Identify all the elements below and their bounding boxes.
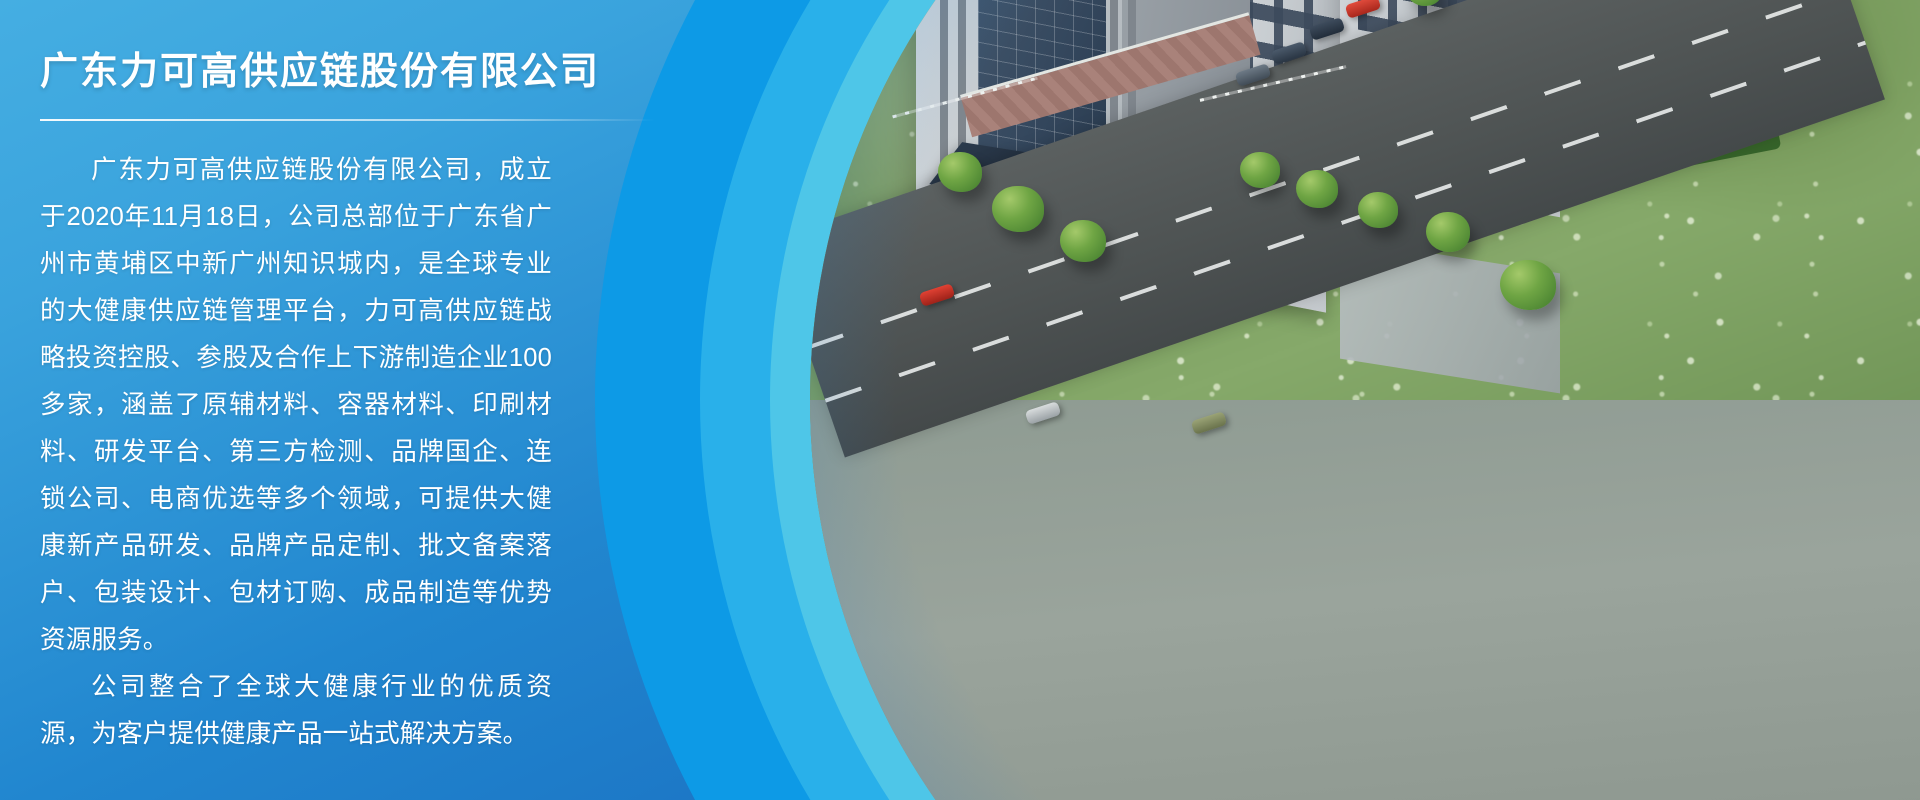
tree-6 bbox=[1358, 192, 1398, 228]
headquarters-photo bbox=[810, 0, 1920, 800]
profile-text-column: 广东力可高供应链股份有限公司 广东力可高供应链股份有限公司，成立于2020年11… bbox=[40, 48, 640, 758]
profile-paragraph-2: 公司整合了全球大健康行业的优质资源，为客户提供健康产品一站式解决方案。 bbox=[40, 664, 552, 758]
title-divider bbox=[40, 119, 655, 121]
profile-paragraph-1: 广东力可高供应链股份有限公司，成立于2020年11月18日，公司总部位于广东省广… bbox=[40, 147, 552, 664]
tree-1 bbox=[938, 152, 982, 192]
site-ground-plane bbox=[810, 400, 1920, 800]
tree-4 bbox=[1240, 152, 1280, 188]
tree-5 bbox=[1296, 170, 1338, 208]
page-title: 广东力可高供应链股份有限公司 bbox=[40, 48, 640, 97]
profile-body: 广东力可高供应链股份有限公司，成立于2020年11月18日，公司总部位于广东省广… bbox=[40, 147, 552, 758]
tree-7 bbox=[1426, 212, 1470, 252]
tree-8 bbox=[1500, 260, 1556, 310]
tree-2 bbox=[992, 186, 1044, 232]
campus-scene bbox=[810, 0, 1920, 800]
company-profile-banner: 广东力可高供应链股份有限公司 广东力可高供应链股份有限公司，成立于2020年11… bbox=[0, 0, 1920, 800]
tree-3 bbox=[1060, 220, 1106, 262]
